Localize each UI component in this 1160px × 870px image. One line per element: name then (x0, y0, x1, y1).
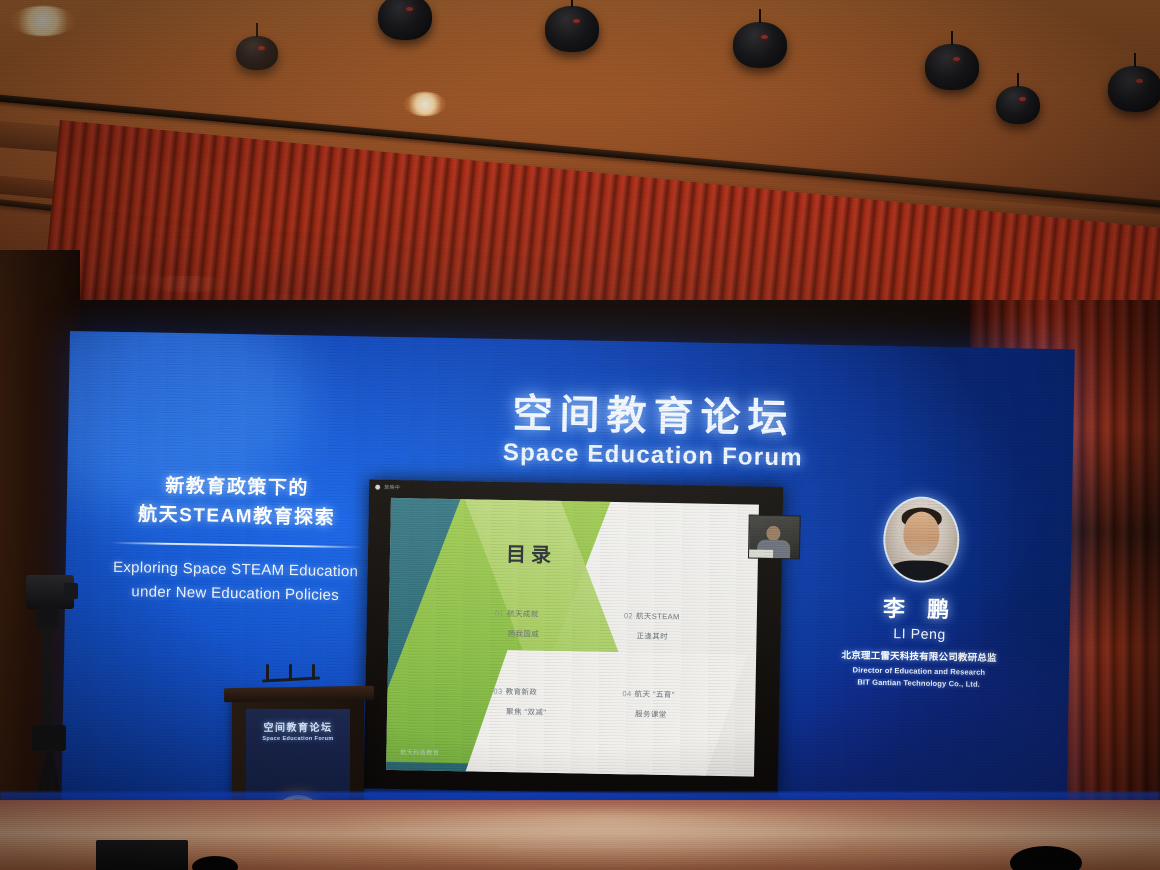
speaker-name-cn: 李 鹏 (820, 590, 1021, 626)
par-can-light (378, 0, 432, 40)
avatar-head (903, 511, 940, 556)
par-can-light (545, 6, 599, 52)
mic-post (289, 664, 292, 680)
pip-person-head (766, 526, 780, 541)
speaker-org-cn: 北京理工雷天科技有限公司教研总监 (819, 647, 1019, 665)
toc-item-line1: 航天 "五育" (635, 689, 675, 699)
toc-item-number: 04 (622, 689, 631, 698)
tripod-head (36, 607, 58, 629)
slide: 目录 01航天成就 扬我国威 02航天STEAM 正逢其时 (386, 498, 759, 777)
camera-lens (64, 583, 78, 599)
topic-block: 新教育政策下的 航天STEAM教育探索 Exploring Space STEA… (75, 471, 397, 609)
slide-footer: 航天科技教育 (400, 747, 439, 757)
floor-grain-streak (500, 846, 840, 848)
toc-item-line2: 聚焦 "双减" (506, 706, 608, 719)
pip-desk (749, 549, 773, 557)
par-can-light (733, 22, 787, 68)
led-video-wall: 空间教育论坛 Space Education Forum 新教育政策下的 航天S… (61, 331, 1074, 819)
toc-item: 02航天STEAM 正逢其时 (623, 610, 739, 643)
toc-item: 03教育新政 聚焦 "双减" (493, 686, 609, 719)
slide-toc: 01航天成就 扬我国威 02航天STEAM 正逢其时 03教育新政 (493, 608, 739, 721)
forum-title-cn: 空间教育论坛 (463, 392, 844, 441)
speaker-title-en-line2: BIT Gantian Technology Co., Ltd. (819, 676, 1019, 690)
toc-item-line1: 教育新政 (506, 687, 538, 697)
avatar-body (888, 560, 952, 583)
ceiling-downlight (404, 92, 446, 116)
floor-grain-streak (380, 828, 800, 830)
toc-item: 01航天成就 扬我国威 (494, 608, 610, 641)
picture-in-picture-video (748, 514, 801, 559)
toc-item-heading: 02航天STEAM (624, 610, 739, 623)
toc-item-heading: 01航天成就 (495, 608, 610, 621)
stage-photograph: 空间教育论坛 Space Education Forum 新教育政策下的 航天S… (0, 0, 1160, 870)
toc-item-line2: 正逢其时 (636, 630, 738, 643)
toc-item-number: 01 (495, 609, 504, 618)
toc-item-number: 03 (493, 687, 502, 696)
toc-item-number: 02 (624, 611, 633, 620)
speaker-card: 李 鹏 LI Peng 北京理工雷天科技有限公司教研总监 Director of… (819, 495, 1022, 691)
presentation-status-label: 放映中 (384, 484, 400, 491)
microphone-stand (262, 664, 320, 704)
toc-item-heading: 03教育新政 (493, 686, 608, 699)
presentation-window: 放映中 目录 01航天成就 扬我国威 (364, 480, 784, 797)
toc-item-line2: 服务课堂 (635, 708, 737, 721)
tripod-column (44, 627, 52, 737)
par-can-light (925, 44, 979, 90)
floor-light-sheen (330, 812, 890, 870)
toc-item-line2: 扬我国威 (507, 628, 609, 641)
ceiling-downlight (10, 6, 76, 36)
toc-item-line1: 航天STEAM (636, 611, 680, 621)
forum-title-en: Space Education Forum (463, 438, 843, 473)
par-can-light (236, 36, 278, 70)
par-can-light (996, 86, 1040, 124)
forum-title: 空间教育论坛 Space Education Forum (463, 392, 844, 473)
podium-sign: 空间教育论坛 Space Education Forum (246, 719, 350, 742)
topic-cn-line2: 航天STEAM教育探索 (76, 500, 396, 534)
topic-divider (110, 542, 362, 549)
floor-loudspeaker (96, 840, 188, 870)
avatar (883, 496, 961, 583)
toc-item-heading: 04航天 "五育" (622, 688, 737, 701)
par-can-light (1108, 66, 1160, 112)
mic-post (312, 664, 315, 680)
mic-post (266, 664, 269, 680)
presentation-status-bar: 放映中 (375, 484, 400, 491)
toc-item: 04航天 "五育" 服务课堂 (622, 688, 738, 721)
record-dot-icon (375, 485, 380, 490)
toc-item-line1: 航天成就 (507, 609, 539, 619)
slide-title: 目录 (506, 538, 557, 568)
speaker-name-en: LI Peng (819, 624, 1019, 644)
podium-sign-cn: 空间教育论坛 (246, 719, 350, 734)
podium-sign-en: Space Education Forum (246, 736, 350, 742)
